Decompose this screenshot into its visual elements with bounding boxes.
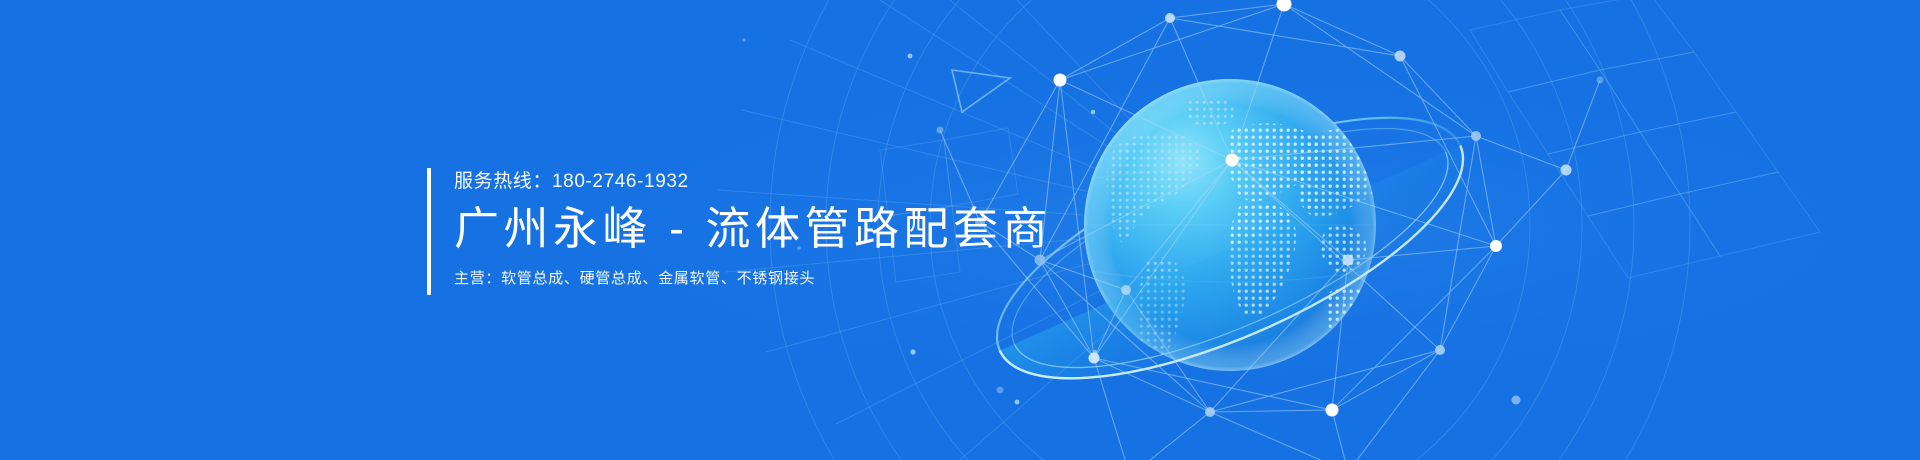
banner-subtitle: 主营：软管总成、硬管总成、金属软管、不锈钢接头 (454, 268, 1052, 290)
banner-text-lines: 服务热线：180-2746-1932 广州永峰 - 流体管路配套商 主营：软管总… (454, 168, 1052, 295)
promotional-banner: 服务热线：180-2746-1932 广州永峰 - 流体管路配套商 主营：软管总… (0, 0, 1920, 460)
banner-text-block: 服务热线：180-2746-1932 广州永峰 - 流体管路配套商 主营：软管总… (427, 168, 1052, 295)
service-hotline: 服务热线：180-2746-1932 (454, 170, 1052, 194)
banner-title: 广州永峰 - 流体管路配套商 (454, 198, 1052, 260)
accent-bar (427, 168, 431, 295)
